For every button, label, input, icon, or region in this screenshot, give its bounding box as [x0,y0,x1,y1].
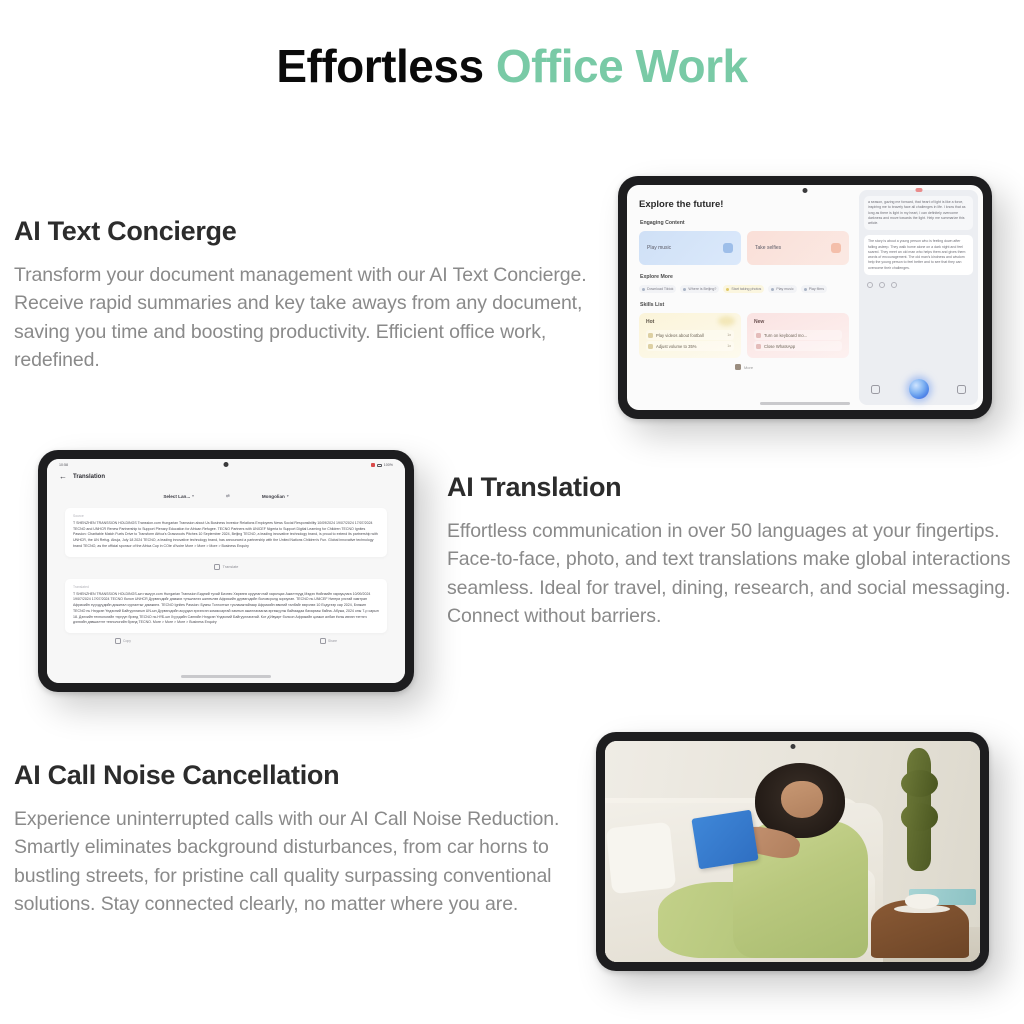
folder-icon [756,344,761,349]
card-take-selfies[interactable]: Take selfies [747,231,849,265]
tablet-screen-explore: Explore the future! Engaging Content Pla… [627,185,983,410]
pill-dot-icon [683,288,686,291]
page-title: Effortless Office Work [0,42,1024,90]
chat-user-message: a season, gazing me forward, that heart … [864,196,973,230]
keyboard-icon[interactable] [957,385,966,394]
chevron-down-icon: ▾ [287,494,289,498]
card-label: Play music [647,245,671,251]
front-camera-icon [803,188,808,193]
app-title: Translation [73,474,105,480]
engaging-content-cards: Play music Take selfies [639,231,849,265]
skill-item[interactable]: Turn on keyboard mo... [754,330,842,340]
home-icon[interactable] [871,385,880,394]
explore-footer-label: More [744,365,753,370]
pill-label: Play music [776,287,793,291]
chat-assistant-reply: The story is about a young person who is… [864,235,973,275]
result-actions: Copy Share [55,633,397,644]
source-language-label: Select Lan... [163,494,190,499]
skill-item-label: Play videos about football [656,333,724,338]
pill-label: Play films [809,287,824,291]
skill-column-title: New [754,319,842,325]
status-battery-level: 100% [384,463,393,467]
pill-where-is-beijing[interactable]: Where is Beijing? [680,285,719,293]
skill-column-new: New Turn on keyboard mo... Close WhatsAp… [747,313,849,358]
cushion [605,822,675,895]
skill-item-label: Adjust volume to 35% [656,344,724,349]
pill-label: Start taking photos [731,287,761,291]
skill-item-label: Close WhatsApp [764,344,842,349]
pill-dot-icon [771,288,774,291]
source-text: T SHENZHEN TRANSSION HOLDINGS Transsion.… [73,521,379,550]
feature-ai-call-noise-cancellation: AI Call Noise Cancellation Experience un… [14,760,594,918]
feature-ai-translation: AI Translation Effortless communication … [447,472,1017,630]
feature-body: Experience uninterrupted calls with our … [14,805,594,918]
swap-languages-icon[interactable]: ⇄ [226,493,230,499]
translate-button-label: Translate [223,565,239,569]
pill-label: Where is Beijing? [688,287,716,291]
chevron-down-icon: ▾ [192,494,194,498]
teacup [905,894,939,909]
music-note-icon [723,243,733,253]
home-indicator [760,402,850,405]
pill-play-music[interactable]: Play music [768,285,796,293]
back-arrow-icon[interactable]: ← [59,473,67,481]
card-label: Take selfies [755,245,781,251]
tablet-device-lifestyle [596,732,989,971]
page-title-mint: Office Work [496,40,748,92]
front-camera-icon [224,462,229,467]
pill-dot-icon [804,288,807,291]
source-panel-label: Source [73,514,379,518]
feature-heading: AI Translation [447,472,1017,503]
page-title-black: Effortless [276,40,483,92]
skill-item[interactable]: Play videos about football 1x [646,330,734,340]
lifestyle-photo [605,741,980,962]
folder-icon [648,344,653,349]
pill-download-tiktok[interactable]: Download Tiktok [639,285,676,293]
person-face [781,781,822,819]
translate-icon [214,564,220,570]
thumbs-down-icon[interactable] [891,282,897,288]
voice-assistant-orb[interactable] [909,379,929,399]
copy-icon [115,638,121,644]
skill-item[interactable]: Close WhatsApp [754,341,842,351]
explore-title: Explore the future! [639,199,849,210]
skill-column-hot: Hot Play videos about football 1x Adjust… [639,313,741,358]
decorative-blob [718,316,735,326]
tablet-screen-translation: 10:58 100% ← Translation Select Lan... ▾… [47,459,405,683]
share-icon [320,638,326,644]
recording-indicator-icon [915,188,922,192]
translate-button[interactable]: Translate [55,564,397,570]
skill-item-label: Turn on keyboard mo... [764,333,842,338]
feature-body: Effortless communication in over 50 lang… [447,517,1017,630]
tablet-device-translation: 10:58 100% ← Translation Select Lan... ▾… [38,450,414,692]
home-indicator [181,675,271,678]
target-language-label: Mongolian [262,494,285,499]
skills-columns: Hot Play videos about football 1x Adjust… [639,313,849,358]
pill-label: Download Tiktok [647,287,673,291]
explore-more-label: Explore More [640,274,849,280]
feature-ai-text-concierge: AI Text Concierge Transform your documen… [14,216,594,374]
battery-icon [377,464,382,467]
folder-icon [648,333,653,338]
status-time: 10:58 [59,463,68,467]
notification-icon [371,463,375,467]
skill-item-count: 1x [727,333,731,337]
feature-body: Transform your document management with … [14,261,594,374]
tablet-device-explore: Explore the future! Engaging Content Pla… [618,176,992,419]
chat-bottom-bar [864,376,973,401]
tablet-screen-lifestyle [605,741,980,962]
ai-assistant-chat-panel: a season, gazing me forward, that heart … [859,190,978,405]
olive-lamp [907,748,931,872]
feature-heading: AI Call Noise Cancellation [14,760,594,791]
copy-button[interactable]: Copy [115,638,131,644]
card-play-music[interactable]: Play music [639,231,741,265]
refresh-icon[interactable] [867,282,873,288]
thumbs-up-icon[interactable] [879,282,885,288]
engaging-content-label: Engaging Content [640,220,849,226]
share-button[interactable]: Share [320,638,337,644]
pill-dot-icon [642,288,645,291]
skill-item-count: 1x [727,344,731,348]
language-selector-row: Select Lan... ▾ ⇄ Mongolian ▾ [55,493,397,499]
front-camera-icon [790,744,795,749]
chat-action-icons [864,280,973,292]
source-text-panel[interactable]: Source T SHENZHEN TRANSSION HOLDINGS Tra… [65,508,387,557]
result-text: T SHENZHEN TRANSSION HOLDINGS-ын гишүүн.… [73,592,379,626]
source-language-dropdown[interactable]: Select Lan... ▾ [163,494,194,499]
camera-icon [831,243,841,253]
skills-list-label: Skills List [640,302,849,308]
target-language-dropdown[interactable]: Mongolian ▾ [262,494,289,499]
result-text-panel[interactable]: Translated T SHENZHEN TRANSSION HOLDINGS… [65,579,387,633]
result-panel-label: Translated [73,585,379,589]
share-label: Share [328,639,337,643]
app-header: ← Translation [55,467,397,481]
explore-more-pills: Download Tiktok Where is Beijing? Start … [639,285,849,293]
pill-play-films[interactable]: Play films [801,285,827,293]
feature-heading: AI Text Concierge [14,216,594,247]
explore-panel: Explore the future! Engaging Content Pla… [627,185,859,410]
copy-label: Copy [123,639,131,643]
skill-item[interactable]: Adjust volume to 35% 1x [646,341,734,351]
blue-tablet-held [691,810,758,870]
explore-more-footer[interactable]: More [639,364,849,370]
folder-icon [756,333,761,338]
pill-start-taking-photos[interactable]: Start taking photos [723,285,764,293]
briefcase-icon [735,364,741,370]
pill-dot-icon [726,288,729,291]
